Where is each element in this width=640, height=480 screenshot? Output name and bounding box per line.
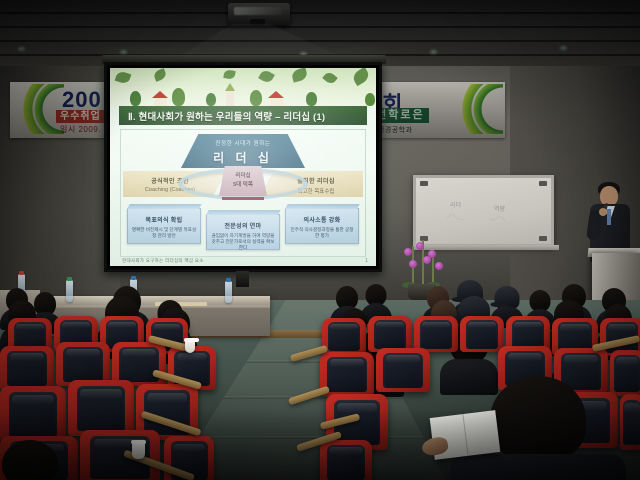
core-line-1: 리더십 bbox=[219, 171, 267, 179]
banner-left-date: 일시 2009. bbox=[60, 124, 101, 135]
presentation-slide: Ⅱ. 현대사회가 원하는 우리들의 역량 – 리더십 (1) 진정한 시대가 원… bbox=[110, 68, 376, 266]
slide-page-number: 1 bbox=[365, 258, 368, 264]
core-underline bbox=[222, 197, 264, 200]
slide-house-icon-2 bbox=[270, 97, 283, 106]
box-1-desc: 명확한 비전제시 및 단계별 목표설정 관리 방안 bbox=[128, 227, 200, 239]
slide-box-2: 전문성의 연마 끊임없이 자기계발을 하여 역량을 갖추고 전문가로서의 실력을… bbox=[206, 214, 280, 250]
slide-foliage-banner bbox=[110, 68, 376, 108]
slide-center-core: 리더십 5대 덕목 bbox=[219, 166, 267, 196]
paper-cup bbox=[132, 442, 145, 459]
auditorium-seat[interactable] bbox=[80, 430, 160, 480]
slide-header-block: 진정한 시대가 원하는 리 더 십 bbox=[181, 134, 305, 168]
lecture-hall-photo: 200 우수취업 일시 2009. 수회 공전학로은 학교 환경공학과 bbox=[0, 0, 640, 480]
slide-footnote: 현대사회가 요구하는 리더십의 핵심 요소 bbox=[122, 258, 204, 264]
slide-house-icon bbox=[154, 97, 167, 106]
presenter-head bbox=[600, 186, 618, 206]
water-bottle bbox=[225, 281, 232, 303]
slide-diagram: 진정한 시대가 원하는 리 더 십 공식적인 조언 Coaching (Coac… bbox=[120, 129, 366, 257]
presenter-hand bbox=[599, 208, 607, 216]
slide-box-1: 목표의식 확립 명확한 비전제시 및 단계별 목표설정 관리 방안 bbox=[127, 208, 201, 244]
auditorium-seat[interactable] bbox=[620, 394, 640, 450]
box-1-title: 목표의식 확립 bbox=[128, 215, 200, 224]
slide-header-main: 리 더 십 bbox=[181, 149, 305, 166]
projector-lens-icon bbox=[250, 19, 265, 26]
whiteboard-scrawl-2: 역량 bbox=[494, 204, 505, 213]
auditorium-seat[interactable] bbox=[610, 350, 640, 396]
screen-stand bbox=[236, 271, 249, 287]
slide-title: Ⅱ. 현대사회가 원하는 우리들의 역량 – 리더십 (1) bbox=[119, 106, 367, 125]
auditorium-seat[interactable] bbox=[0, 386, 66, 442]
auditorium-seat[interactable] bbox=[320, 440, 372, 480]
ceiling-projector-icon bbox=[228, 3, 290, 25]
auditorium-seat[interactable] bbox=[0, 346, 54, 390]
projection-screen: Ⅱ. 현대사회가 원하는 우리들의 역량 – 리더십 (1) 진정한 시대가 원… bbox=[104, 62, 382, 272]
box-3-title: 의사소통 강화 bbox=[286, 215, 358, 224]
box-2-desc: 끊임없이 자기계발을 하여 역량을 갖추고 전문가로서의 실력을 확보한다 bbox=[207, 233, 279, 251]
core-line-2: 5대 덕목 bbox=[219, 180, 267, 188]
auditorium-seat[interactable] bbox=[376, 348, 430, 392]
auditorium-seat[interactable] bbox=[460, 316, 504, 352]
paper-cup bbox=[185, 340, 195, 353]
auditorium-seat[interactable] bbox=[68, 380, 134, 436]
box-2-title: 전문성의 연마 bbox=[207, 221, 279, 230]
presenter-tie bbox=[607, 209, 611, 225]
slide-box-3: 의사소통 강화 민주적 의사결정과정을 통한 공정한 평가 bbox=[285, 208, 359, 244]
auditorium-seat[interactable] bbox=[368, 316, 412, 352]
water-bottle bbox=[66, 280, 73, 302]
whiteboard: 리더 역량 ／＼＿ ○／＼ bbox=[413, 175, 554, 247]
audience-member bbox=[0, 440, 70, 480]
box-3-desc: 민주적 의사결정과정을 통한 공정한 평가 bbox=[286, 227, 358, 239]
banner-left-red-text: 우수취업 bbox=[56, 110, 105, 123]
slide-header-sub: 진정한 시대가 원하는 bbox=[181, 139, 305, 147]
auditorium-seat[interactable] bbox=[414, 316, 458, 352]
banner-swoosh-icon-right bbox=[453, 84, 503, 134]
auditorium-seat[interactable] bbox=[322, 318, 366, 354]
banner-swoosh-icon bbox=[14, 84, 64, 134]
slide-tower-icon bbox=[226, 90, 234, 106]
left-wall bbox=[0, 30, 120, 305]
whiteboard-scrawl-1: 리더 bbox=[450, 200, 461, 209]
